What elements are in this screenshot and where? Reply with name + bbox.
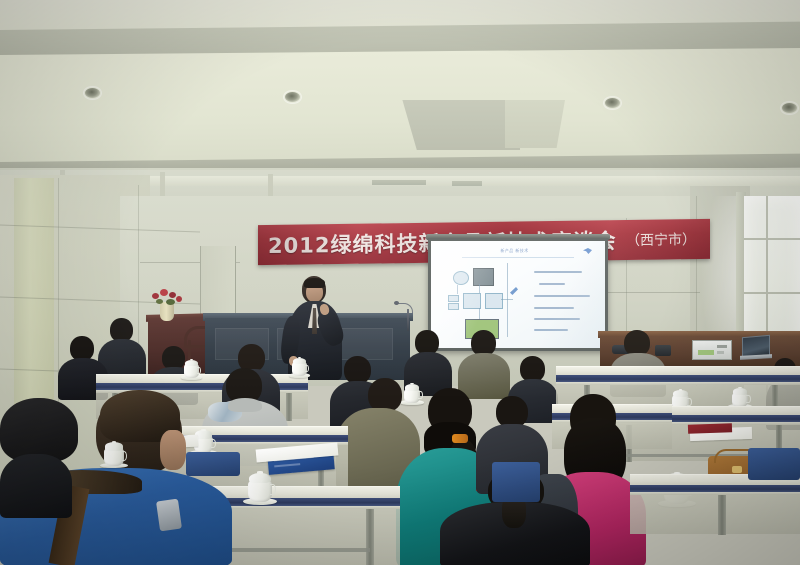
chair-back[interactable] — [492, 462, 540, 502]
ceiling-downlight-icon — [605, 98, 620, 108]
cap — [0, 398, 78, 462]
ceiling-notch-secondary — [505, 100, 565, 148]
projection-screen-frame: 新产品 新技术 — [428, 238, 608, 351]
table-row — [630, 474, 800, 534]
attendee — [458, 330, 510, 394]
banner-city: （西宁市） — [626, 229, 700, 250]
hair-tie — [452, 434, 468, 443]
red-folder[interactable] — [688, 423, 732, 434]
ceiling-notch — [400, 100, 520, 150]
ceiling-downlight-icon — [285, 92, 300, 102]
ceiling-main-plane — [0, 48, 800, 170]
lidded-tea-cup — [292, 356, 307, 376]
microphone-icon — [394, 301, 399, 305]
projector-control-box[interactable] — [692, 340, 732, 360]
chair-back[interactable] — [748, 448, 800, 480]
ceiling-downlight-icon — [85, 88, 100, 98]
microphone-stand — [407, 309, 409, 331]
lidded-tea-cup — [104, 440, 124, 466]
conference-room-photo: 2012绿绵科技新产品新技术座谈会 （西宁市） 新产品 新技术 — [0, 0, 800, 565]
mobile-phone[interactable] — [156, 499, 182, 532]
soffit-vent — [372, 180, 426, 185]
lidded-tea-cup — [732, 386, 748, 407]
flower-bouquet — [150, 288, 186, 306]
ceiling-downlight-icon — [782, 103, 797, 113]
ear-cheek — [160, 430, 186, 470]
lidded-tea-cup — [184, 358, 199, 378]
soffit-vent — [452, 181, 482, 186]
attendee — [0, 398, 90, 518]
